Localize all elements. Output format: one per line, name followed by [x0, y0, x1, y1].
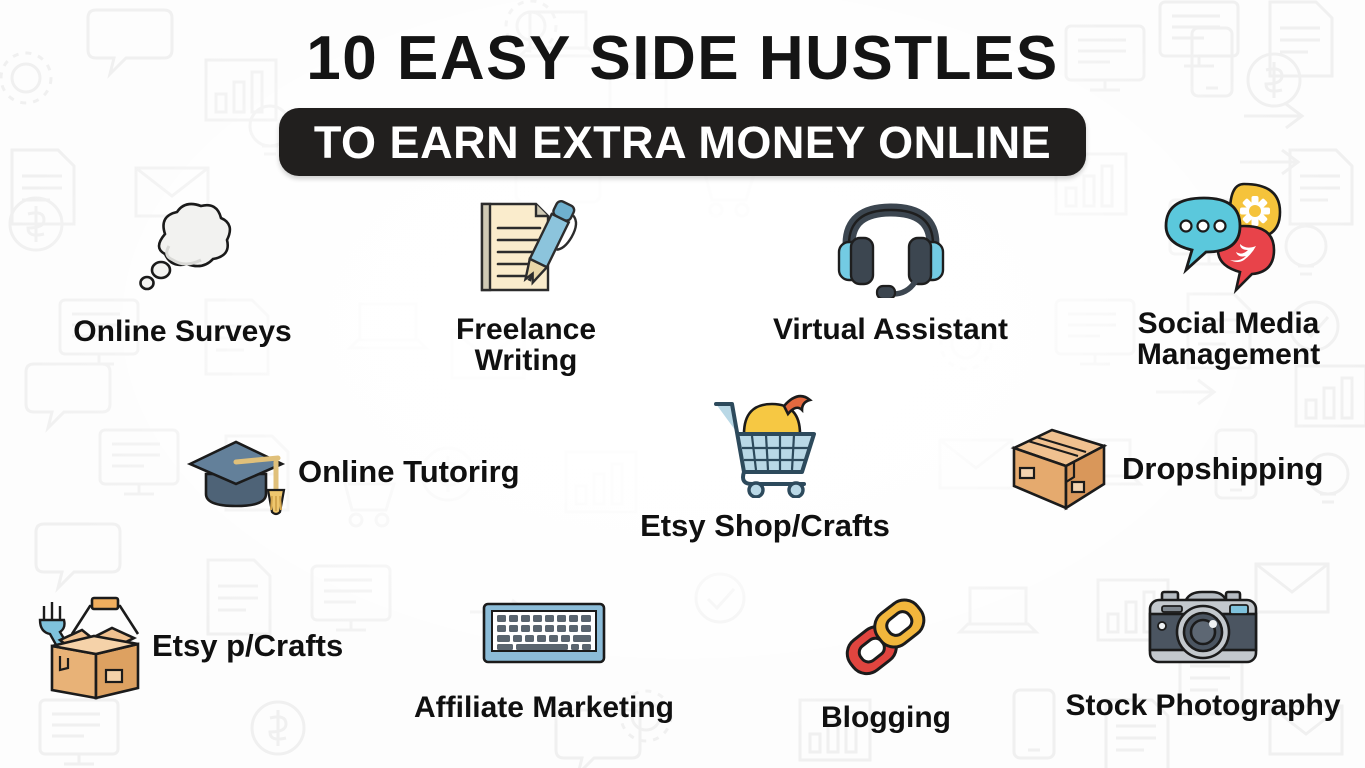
item-label-online-tutoring: Online Tutorirg	[298, 456, 520, 488]
item-label-social-media-management: Social Media Management	[1137, 308, 1320, 370]
item-label-blogging: Blogging	[821, 702, 951, 733]
graduation-cap-icon	[186, 428, 292, 516]
subtitle-banner: TO EARN EXTRA MONEY ONLINE	[279, 108, 1086, 176]
item-label-freelance-writing: Freelance Writing	[403, 314, 649, 376]
item-virtual-assistant: Virtual Assistant	[768, 196, 1013, 345]
package-box-icon	[1008, 424, 1110, 514]
item-etsy-shop-crafts: Etsy Shop/Crafts	[640, 390, 890, 542]
headset-icon	[833, 196, 949, 298]
keyboard-icon	[482, 600, 606, 668]
item-label-affiliate-marketing: Affiliate Marketing	[414, 692, 674, 723]
page-title: 10 EASY SIDE HUSTLES	[0, 28, 1365, 90]
item-label-dropshipping: Dropshipping	[1122, 453, 1323, 485]
item-freelance-writing: Freelance Writing	[403, 196, 649, 376]
item-etsy-p-crafts: Etsy p/Crafts	[34, 592, 343, 700]
shopping-cart-icon	[706, 390, 824, 498]
thought-bubble-icon	[129, 196, 237, 296]
item-blogging: Blogging	[816, 596, 956, 733]
item-label-etsy-p-crafts: Etsy p/Crafts	[152, 630, 343, 662]
memo-pen-icon	[470, 196, 582, 298]
item-label-etsy-shop-crafts: Etsy Shop/Crafts	[640, 510, 890, 542]
item-social-media-management: Social Media Management	[1106, 178, 1351, 370]
item-online-surveys: Online Surveys	[70, 196, 295, 347]
chain-link-icon	[835, 596, 937, 682]
infographic-canvas: 10 EASY SIDE HUSTLES TO EARN EXTRA MONEY…	[0, 0, 1365, 768]
subtitle-text: TO EARN EXTRA MONEY ONLINE	[314, 120, 1051, 165]
camera-icon	[1146, 588, 1260, 668]
open-box-fork-icon	[34, 592, 146, 700]
item-affiliate-marketing: Affiliate Marketing	[408, 600, 680, 723]
item-label-stock-photography: Stock Photography	[1065, 690, 1340, 721]
item-online-tutoring: Online Tutorirg	[186, 428, 520, 516]
item-dropshipping: Dropshipping	[1008, 424, 1323, 514]
speech-bubbles-icon	[1164, 178, 1294, 296]
item-stock-photography: Stock Photography	[1058, 588, 1348, 721]
item-label-virtual-assistant: Virtual Assistant	[773, 314, 1008, 345]
item-label-online-surveys: Online Surveys	[73, 316, 291, 347]
